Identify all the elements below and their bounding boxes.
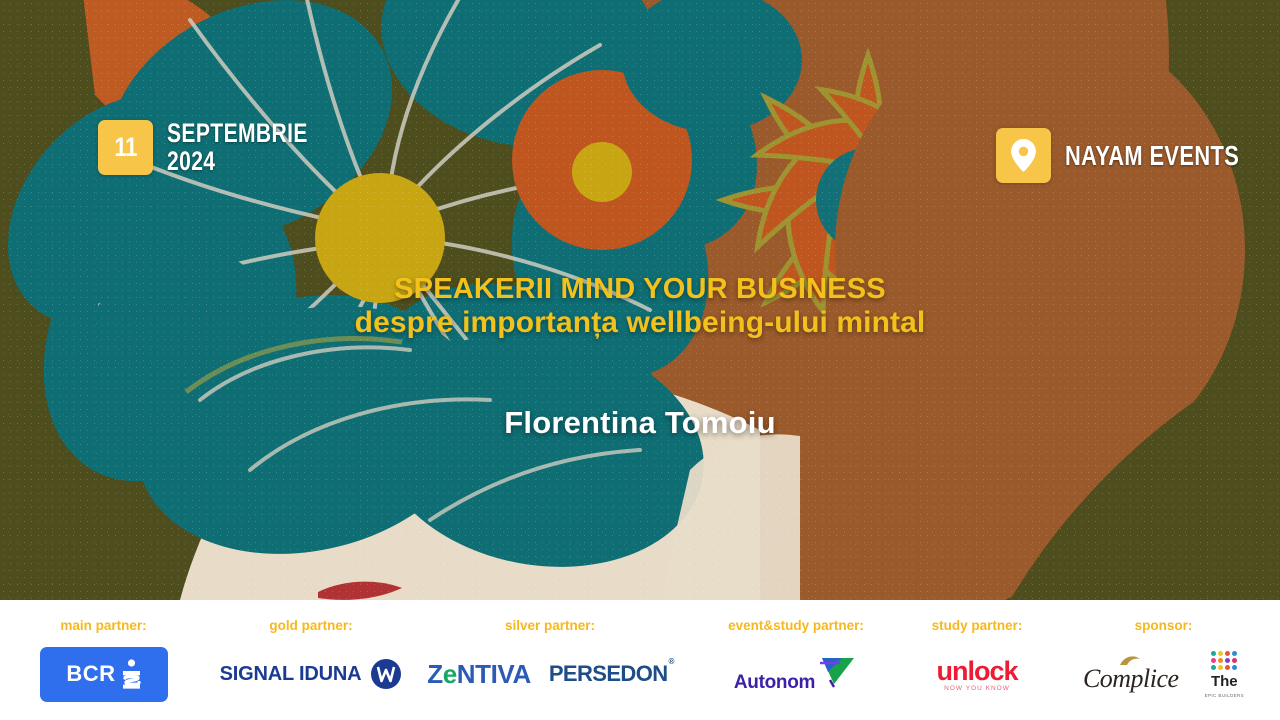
partner-logos: Autonom — [734, 647, 858, 701]
persedon-trademark: ® — [669, 657, 674, 666]
partner-label: study partner: — [932, 618, 1023, 633]
unlock-logo[interactable]: unlock NOW YOU KNOW — [936, 656, 1017, 692]
persedon-logo[interactable]: PERSEDON® — [549, 661, 673, 687]
month-label: SEPTEMBRIE — [167, 120, 308, 148]
complice-wordmark: Complice — [1083, 664, 1179, 694]
unlock-tagline: NOW YOU KNOW — [944, 685, 1010, 692]
partner-label: gold partner: — [269, 618, 352, 633]
dot-grid-icon — [1211, 651, 1237, 670]
autonom-arrow-icon — [818, 654, 858, 688]
date-badge: 11 SEPTEMBRIE 2024 — [98, 120, 348, 175]
headline-line-1: SPEAKERII MIND YOUR BUSINESS — [0, 273, 1280, 306]
partner-group-study: study partner: unlock NOW YOU KNOW — [907, 600, 1047, 701]
partner-group-gold: gold partner: SIGNAL IDUNA — [207, 600, 415, 701]
partner-logos: ZeNTIVA PERSEDON® — [427, 647, 673, 701]
zentiva-logo[interactable]: ZeNTIVA — [427, 659, 531, 690]
partner-logos: SIGNAL IDUNA — [220, 647, 403, 701]
partner-label: event&study partner: — [728, 618, 864, 633]
partner-label: main partner: — [60, 618, 146, 633]
partner-group-sponsor: sponsor: Complice The EPIC BUILDERS — [1047, 600, 1280, 701]
year-label: 2024 — [167, 148, 308, 176]
day-chip: 11 — [98, 120, 153, 175]
autonom-logo[interactable]: Autonom — [734, 654, 858, 694]
bcr-wordmark: BCR — [66, 661, 115, 687]
partner-logos: Complice The EPIC BUILDERS — [1083, 647, 1244, 701]
headline-line-2: despre importanța wellbeing-ului mintal — [0, 306, 1280, 340]
the-logo[interactable]: The EPIC BUILDERS — [1205, 651, 1244, 698]
erste-s-icon — [122, 659, 141, 689]
partners-bar: main partner: BCR gold partner: SIGN — [0, 600, 1280, 720]
partner-group-silver: silver partner: ZeNTIVA PERSEDON® — [415, 600, 685, 701]
partner-label: silver partner: — [505, 618, 595, 633]
signal-iduna-emblem-icon — [370, 658, 402, 690]
speaker-name: Florentina Tomoiu — [0, 405, 1280, 441]
day-number: 11 — [114, 132, 137, 163]
unlock-wordmark: unlock — [936, 656, 1017, 687]
the-tagline: EPIC BUILDERS — [1205, 693, 1244, 698]
venue-name: NAYAM EVENTS — [1065, 140, 1239, 172]
persedon-wordmark: PERSEDON — [549, 661, 668, 686]
date-text: SEPTEMBRIE 2024 — [167, 120, 308, 175]
venue-chip — [996, 128, 1051, 183]
venue-badge: NAYAM EVENTS — [996, 128, 1280, 183]
partner-group-event-study: event&study partner: Autonom — [685, 600, 907, 701]
partner-logos: unlock NOW YOU KNOW — [936, 647, 1017, 701]
event-promo-slide: 11 SEPTEMBRIE 2024 NAYAM EVENTS SPEAKERI… — [0, 0, 1280, 720]
partner-group-main: main partner: BCR — [0, 600, 207, 701]
partner-logos: BCR — [40, 647, 168, 701]
location-pin-icon — [1011, 139, 1036, 172]
signal-iduna-logo[interactable]: SIGNAL IDUNA — [220, 658, 403, 690]
signal-iduna-wordmark: SIGNAL IDUNA — [220, 663, 362, 686]
autonom-wordmark: Autonom — [734, 672, 815, 694]
the-wordmark: The — [1211, 673, 1238, 690]
headline-block: SPEAKERII MIND YOUR BUSINESS despre impo… — [0, 273, 1280, 340]
complice-logo[interactable]: Complice — [1083, 654, 1179, 694]
partner-label: sponsor: — [1135, 618, 1193, 633]
bcr-logo[interactable]: BCR — [40, 647, 168, 702]
